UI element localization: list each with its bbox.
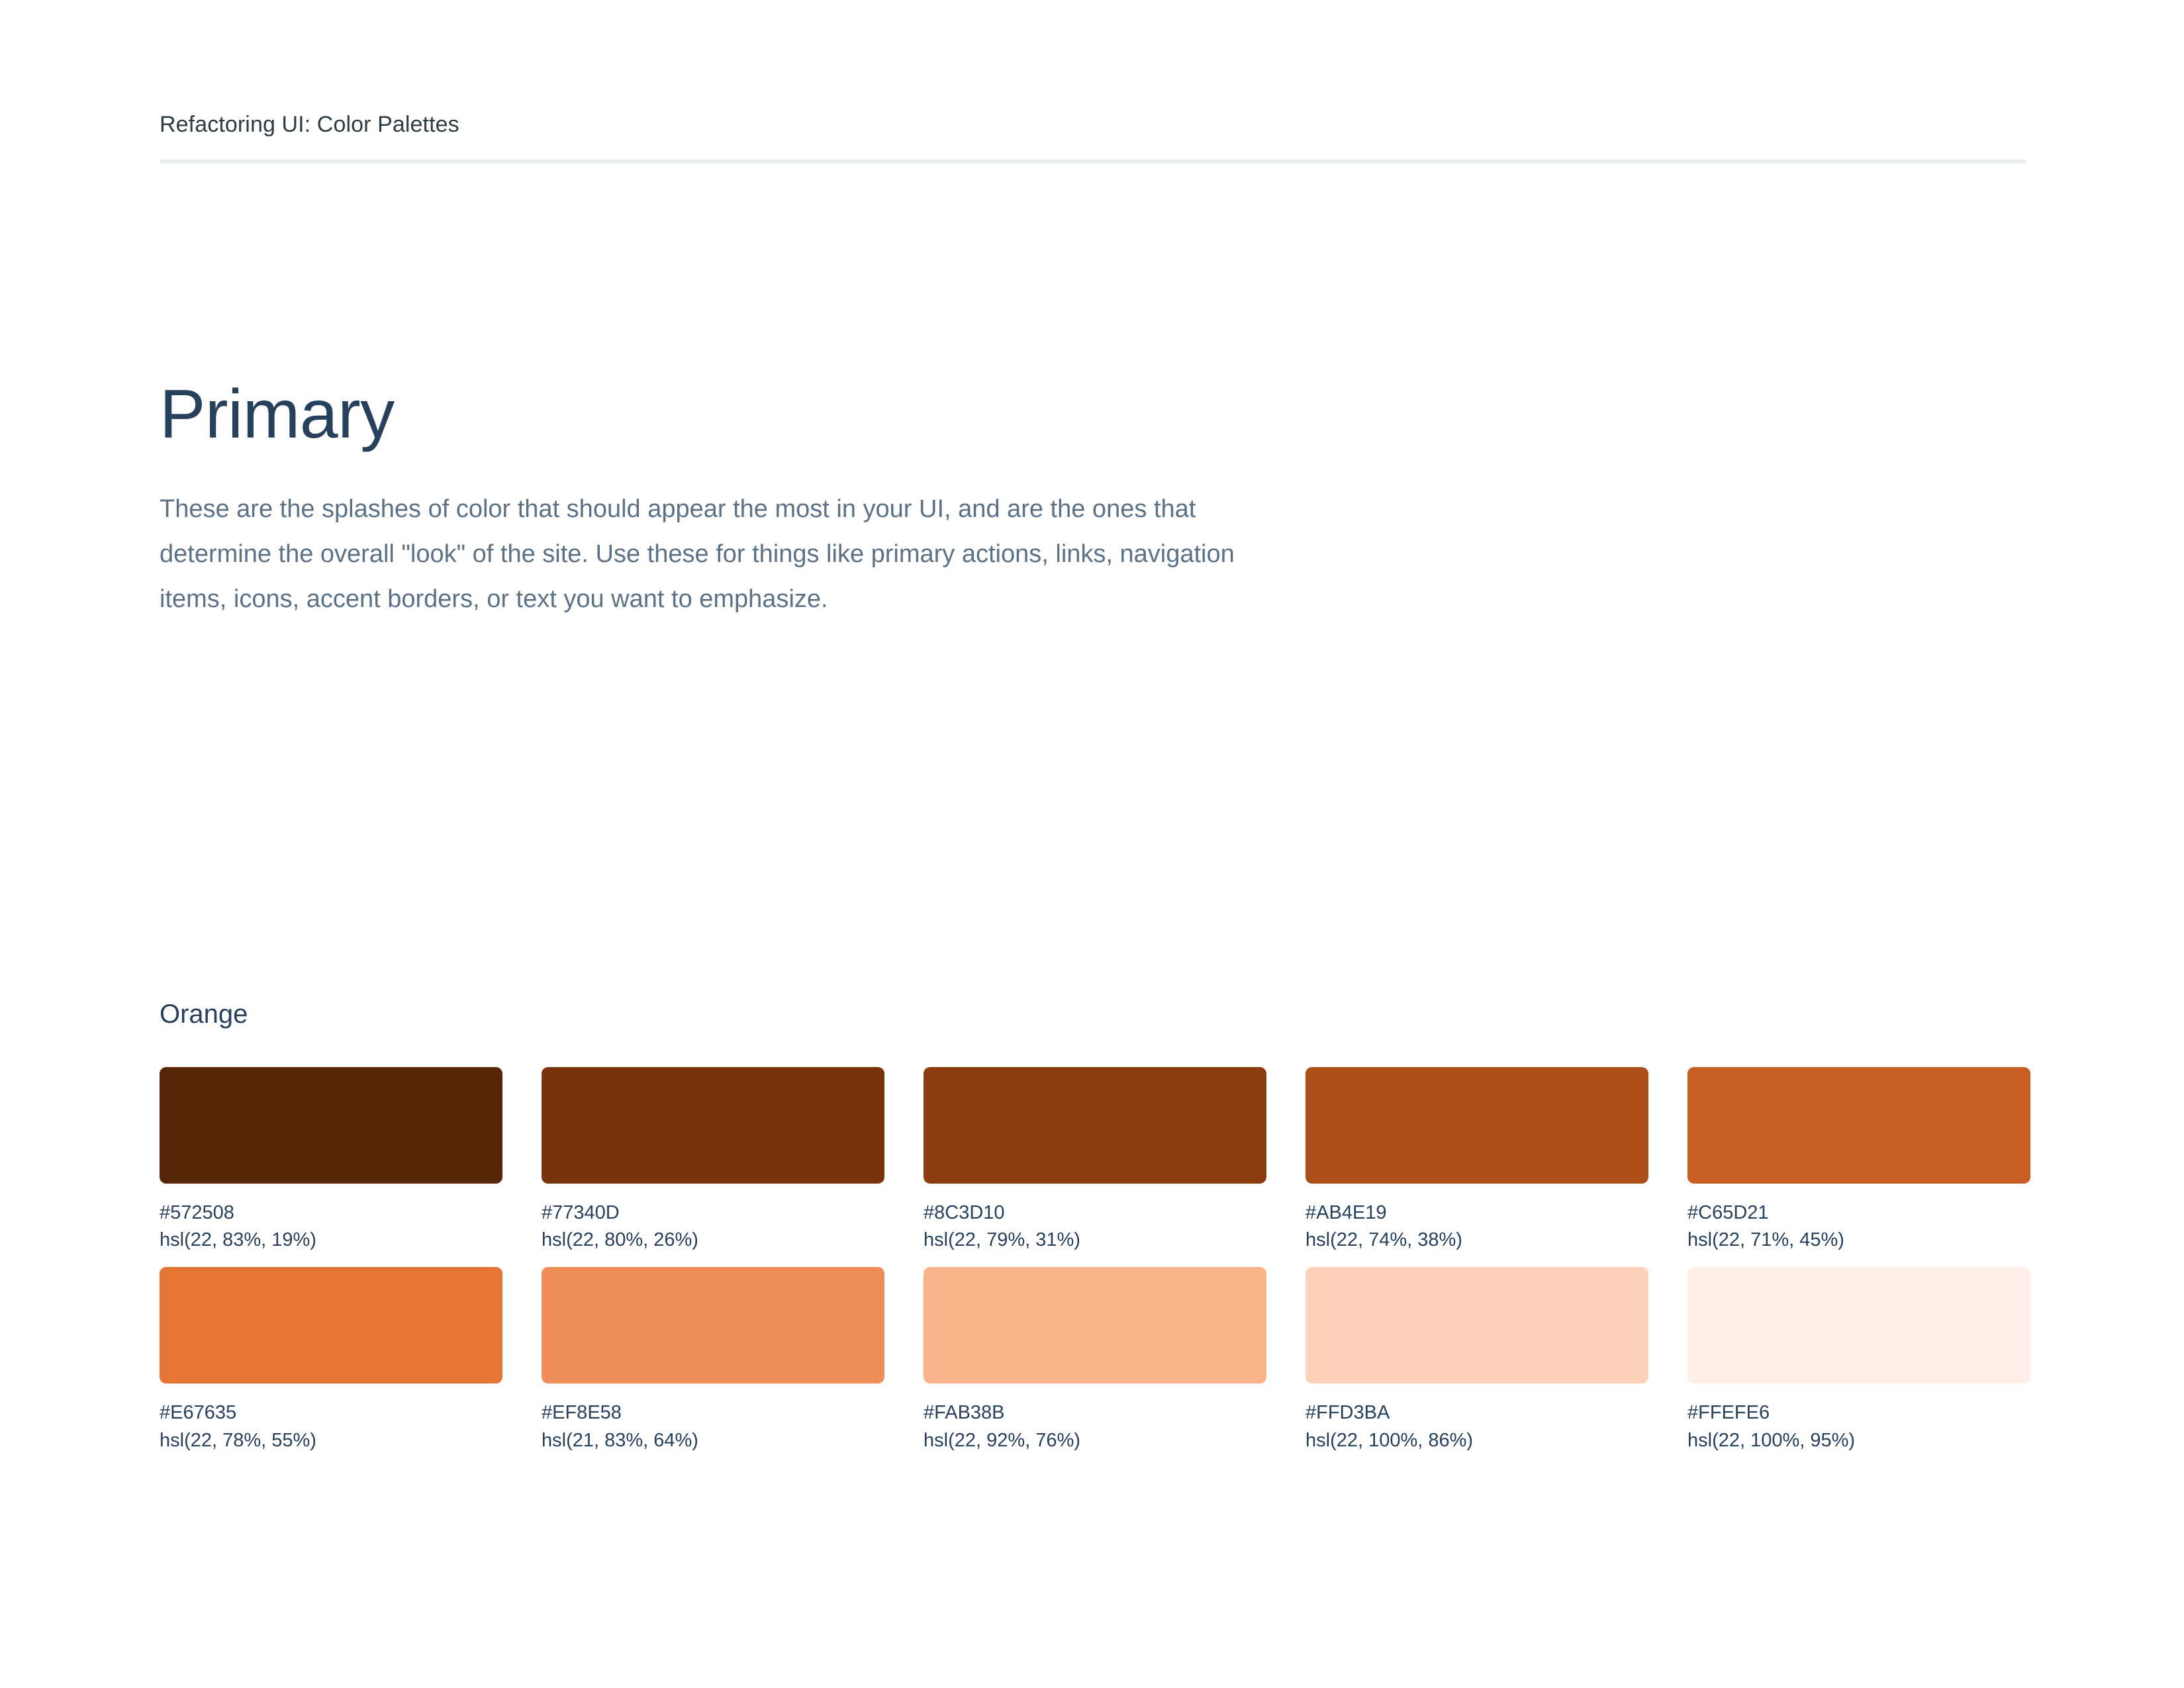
swatch-hsl-label: hsl(22, 79%, 31%) [924,1227,1266,1254]
swatch-item[interactable]: #FAB38B hsl(22, 92%, 76%) [924,1267,1266,1454]
swatch-meta: #EF8E58 hsl(21, 83%, 64%) [542,1399,884,1454]
swatch-hex-label: #8C3D10 [924,1199,1266,1227]
document-header: Refactoring UI: Color Palettes [160,111,2026,138]
header-divider [160,160,2026,164]
swatch-chip[interactable] [542,1267,884,1383]
document-title: Refactoring UI: Color Palettes [160,111,2026,138]
swatch-chip[interactable] [924,1067,1266,1184]
swatch-meta: #8C3D10 hsl(22, 79%, 31%) [924,1199,1266,1254]
swatch-meta: #C65D21 hsl(22, 71%, 45%) [1687,1199,2030,1254]
swatch-chip[interactable] [542,1067,884,1184]
swatch-chip[interactable] [160,1067,502,1184]
swatch-item[interactable]: #E67635 hsl(22, 78%, 55%) [160,1267,502,1454]
swatch-chip[interactable] [1687,1067,2030,1184]
swatch-hsl-label: hsl(22, 100%, 86%) [1306,1427,1648,1454]
swatch-hsl-label: hsl(22, 83%, 19%) [160,1227,502,1254]
swatch-chip[interactable] [160,1267,502,1383]
swatch-meta: #E67635 hsl(22, 78%, 55%) [160,1399,502,1454]
swatch-hex-label: #EF8E58 [542,1399,884,1427]
swatch-hsl-label: hsl(22, 78%, 55%) [160,1427,502,1454]
swatch-hex-label: #FAB38B [924,1399,1266,1427]
swatch-grid: #572508 hsl(22, 83%, 19%) #77340D hsl(22… [160,1067,2036,1454]
swatch-item[interactable]: #C65D21 hsl(22, 71%, 45%) [1687,1067,2030,1254]
swatch-chip[interactable] [924,1267,1266,1383]
swatch-hsl-label: hsl(22, 92%, 76%) [924,1427,1266,1454]
swatch-hex-label: #572508 [160,1199,502,1227]
swatch-chip[interactable] [1306,1067,1648,1184]
page-title: Primary [160,376,1285,453]
swatch-item[interactable]: #FFD3BA hsl(22, 100%, 86%) [1306,1267,1648,1454]
swatch-hsl-label: hsl(22, 80%, 26%) [542,1227,884,1254]
swatch-item[interactable]: #8C3D10 hsl(22, 79%, 31%) [924,1067,1266,1254]
page-description: These are the splashes of color that sho… [160,487,1245,622]
swatch-meta: #FFD3BA hsl(22, 100%, 86%) [1306,1399,1648,1454]
swatch-meta: #FFEFE6 hsl(22, 100%, 95%) [1687,1399,2030,1454]
swatch-chip[interactable] [1306,1267,1648,1383]
swatch-item[interactable]: #AB4E19 hsl(22, 74%, 38%) [1306,1067,1648,1254]
swatch-hex-label: #E67635 [160,1399,502,1427]
swatch-hsl-label: hsl(22, 100%, 95%) [1687,1427,2030,1454]
palette-section: Orange #572508 hsl(22, 83%, 19%) #77340D… [160,998,2036,1454]
swatch-item[interactable]: #77340D hsl(22, 80%, 26%) [542,1067,884,1254]
palette-name: Orange [160,998,2036,1030]
swatch-hex-label: #77340D [542,1199,884,1227]
swatch-item[interactable]: #572508 hsl(22, 83%, 19%) [160,1067,502,1254]
swatch-hex-label: #FFEFE6 [1687,1399,2030,1427]
swatch-meta: #FAB38B hsl(22, 92%, 76%) [924,1399,1266,1454]
swatch-item[interactable]: #EF8E58 hsl(21, 83%, 64%) [542,1267,884,1454]
swatch-hex-label: #C65D21 [1687,1199,2030,1227]
swatch-hsl-label: hsl(21, 83%, 64%) [542,1427,884,1454]
swatch-meta: #77340D hsl(22, 80%, 26%) [542,1199,884,1254]
swatch-item[interactable]: #FFEFE6 hsl(22, 100%, 95%) [1687,1267,2030,1454]
swatch-hex-label: #FFD3BA [1306,1399,1648,1427]
swatch-hsl-label: hsl(22, 71%, 45%) [1687,1227,2030,1254]
intro-section: Primary These are the splashes of color … [160,376,1285,622]
swatch-meta: #AB4E19 hsl(22, 74%, 38%) [1306,1199,1648,1254]
swatch-chip[interactable] [1687,1267,2030,1383]
swatch-meta: #572508 hsl(22, 83%, 19%) [160,1199,502,1254]
swatch-hex-label: #AB4E19 [1306,1199,1648,1227]
swatch-hsl-label: hsl(22, 74%, 38%) [1306,1227,1648,1254]
color-palette-page: Refactoring UI: Color Palettes Primary T… [0,0,2184,1688]
